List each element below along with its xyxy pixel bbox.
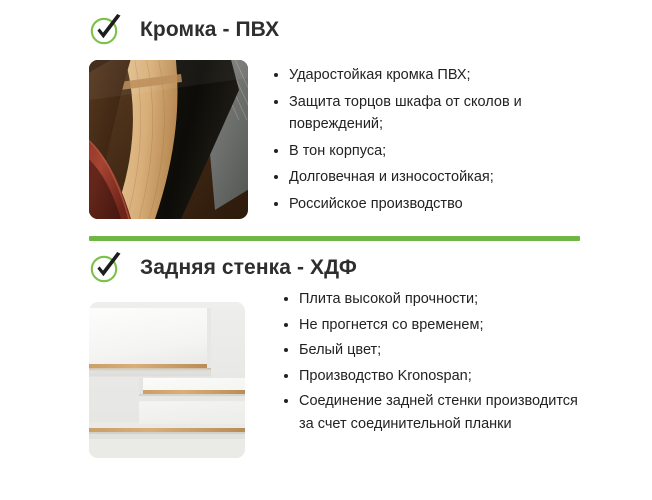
list-item: Защита торцов шкафа от сколов и поврежде… [272,91,572,136]
feature-list-edge: Ударостойкая кромка ПВХ; Защита торцов ш… [272,64,572,219]
section-header-back: Задняя стенка - ХДФ [0,246,652,288]
section-body-edge: Ударостойкая кромка ПВХ; Защита торцов ш… [0,50,652,230]
page-title: Кромка - ПВХ [140,19,279,40]
list-item: Плита высокой прочности; [282,288,582,311]
list-item: Долговечная и износостойкая; [272,166,572,189]
list-item: Производство Kronospan; [282,365,582,388]
section-header-edge: Кромка - ПВХ [0,8,652,50]
check-circle-icon [89,250,125,284]
page-title: Задняя стенка - ХДФ [140,257,357,278]
section-body-back: Плита высокой прочности; Не прогнется со… [0,288,652,478]
feature-infographic: Кромка - ПВХ [0,0,652,500]
hdf-back-panel-photo [89,302,245,458]
section-divider [89,236,580,241]
list-item: Не прогнется со временем; [282,314,582,337]
pvc-edge-banding-rolls-photo [89,60,248,219]
list-item: Российское производство [272,193,572,216]
check-circle-icon [89,12,125,46]
feature-list-back: Плита высокой прочности; Не прогнется со… [282,288,582,438]
list-item: В тон корпуса; [272,140,572,163]
feature-section-back: Задняя стенка - ХДФ [0,246,652,478]
feature-section-edge: Кромка - ПВХ [0,8,652,230]
list-item: Ударостойкая кромка ПВХ; [272,64,572,87]
list-item: Соединение задней стенки производится за… [282,390,582,435]
list-item: Белый цвет; [282,339,582,362]
